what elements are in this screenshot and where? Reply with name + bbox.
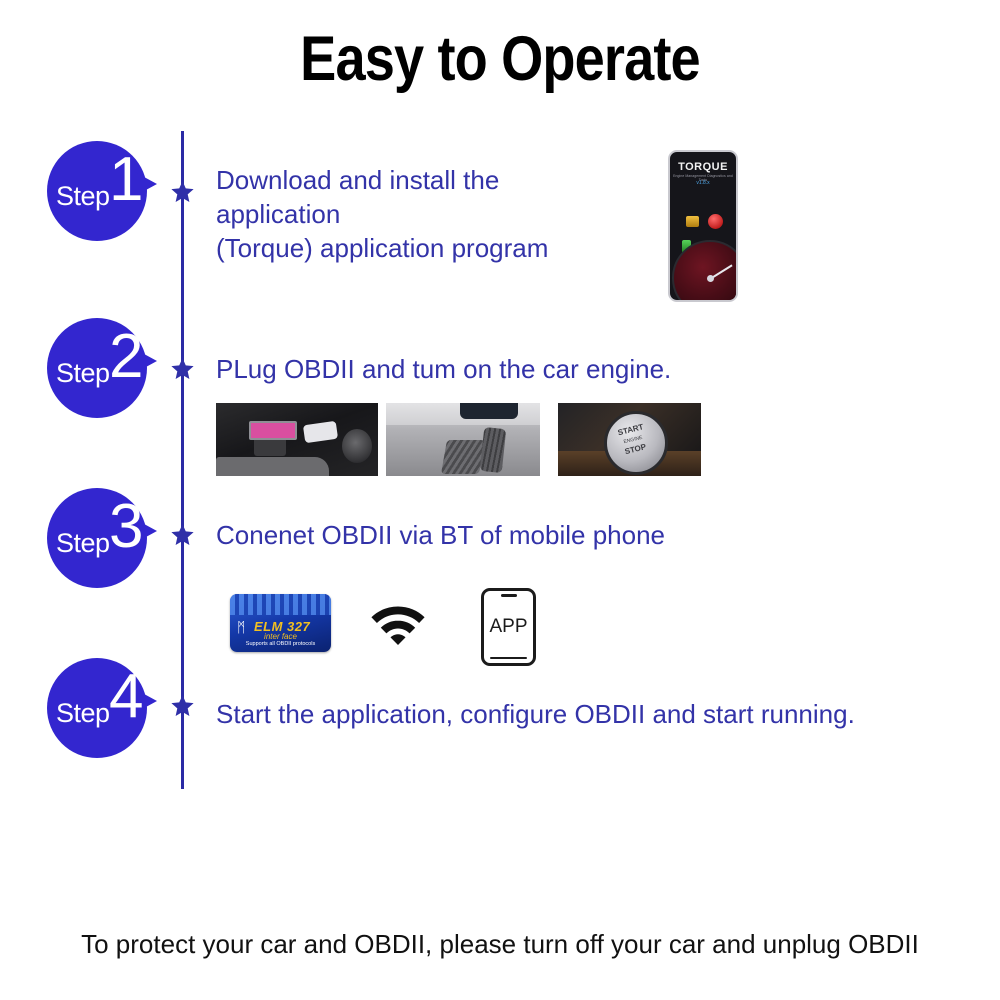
- adapter-protocols-label: Supports all OBDII protocols: [230, 641, 331, 647]
- step-description-1: Download and install the application (To…: [216, 163, 686, 265]
- gas-pedal: [480, 427, 506, 473]
- step-badge-word: Step: [56, 528, 110, 559]
- phone-home-bar: [490, 657, 527, 659]
- dash-knob: [342, 429, 372, 463]
- torque-app-title: TORQUE: [670, 161, 736, 173]
- wifi-signal-icon: [370, 602, 426, 648]
- step-badge-4: Step 4: [47, 658, 151, 762]
- star-icon: [168, 521, 197, 550]
- adapter-pins: [230, 594, 331, 615]
- phone-speaker-notch: [501, 594, 517, 597]
- step-badge-word: Step: [56, 358, 110, 389]
- step-badge-1: Step 1: [47, 141, 151, 245]
- footer-note: To protect your car and OBDII, please tu…: [0, 929, 1000, 960]
- step-description-4: Start the application, configure OBDII a…: [216, 697, 956, 731]
- star-icon: [168, 692, 197, 721]
- obd-port-photo: [216, 403, 378, 476]
- brake-pedal: [441, 440, 485, 474]
- timeline-axis: [181, 131, 184, 789]
- photo-carpet: [216, 457, 329, 476]
- step-badge-number: 1: [109, 149, 143, 211]
- app-label: APP: [484, 615, 533, 639]
- start-stop-button-photo: START ENGINE STOP: [558, 403, 701, 476]
- star-icon: [168, 355, 197, 384]
- step-description-3: Conenet OBDII via BT of mobile phone: [216, 518, 916, 552]
- torque-chip-adaptions-icon: [708, 214, 723, 229]
- step-badge-number: 4: [109, 666, 143, 728]
- adapter-interface-label: inter face: [230, 632, 331, 641]
- step-badge-word: Step: [56, 181, 110, 212]
- torque-app-version: v1.8.x: [670, 180, 736, 186]
- photo-dark-panel: [460, 403, 519, 419]
- page-title: Easy to Operate: [70, 26, 930, 92]
- obd-port-connector: [249, 421, 297, 440]
- torque-chip-fault-codes-icon: [686, 216, 699, 227]
- step-badge-3: Step 3: [47, 488, 151, 592]
- car-pedals-photo: [386, 403, 540, 476]
- step-badge-word: Step: [56, 698, 110, 729]
- step-badge-number: 2: [109, 326, 143, 388]
- star-icon: [168, 178, 197, 207]
- torque-app-screenshot: TORQUE Engine Management Diagnostics and…: [668, 150, 738, 302]
- step-description-2: PLug OBDII and tum on the car engine.: [216, 352, 916, 386]
- mobile-phone-outline: APP: [481, 588, 536, 666]
- torque-gauge-hub: [707, 275, 714, 282]
- step-badge-number: 3: [109, 496, 143, 558]
- elm327-adapter: ᛗ ELM 327 inter face Supports all OBDII …: [230, 594, 331, 652]
- step-badge-2: Step 2: [47, 318, 151, 422]
